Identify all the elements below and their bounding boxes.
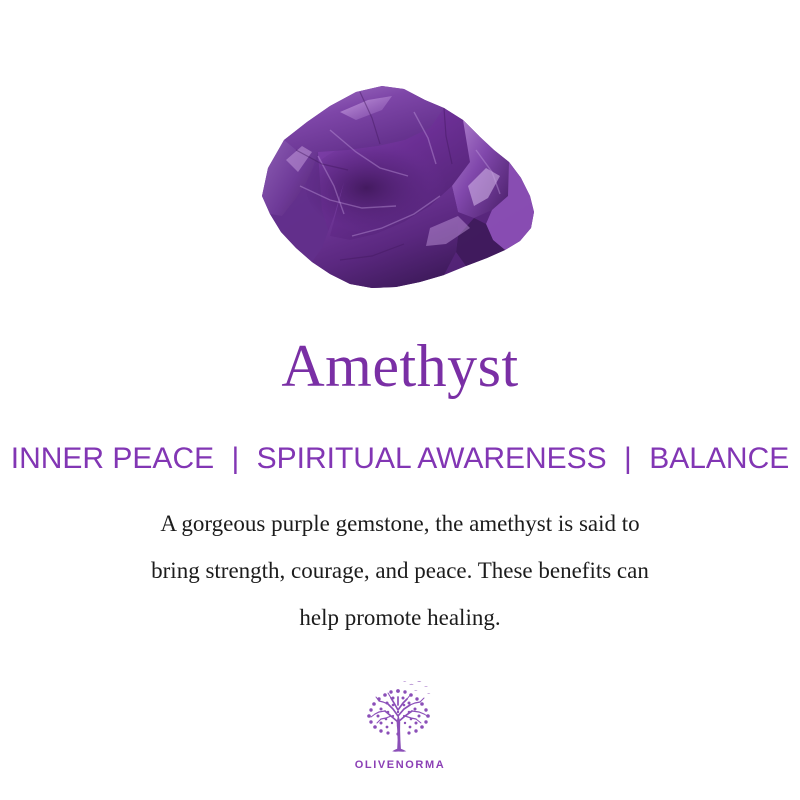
brand-name: OLIVENORMA [355, 759, 446, 771]
brand-logo: OLIVENORMA [0, 678, 800, 771]
product-description: A gorgeous purple gemstone, the amethyst… [40, 500, 760, 641]
product-card: Amethyst INNER PEACE | SPIRITUAL AWARENE… [0, 0, 800, 800]
keyword-separator: | [222, 442, 248, 475]
product-image [0, 0, 800, 320]
keyword-inner-peace: INNER PEACE [11, 442, 214, 475]
amethyst-stone-illustration [0, 0, 800, 320]
description-line: help promote healing. [40, 594, 760, 641]
description-line: A gorgeous purple gemstone, the amethyst… [40, 500, 760, 547]
keyword-list: INNER PEACE | SPIRITUAL AWARENESS | BALA… [0, 440, 800, 478]
keyword-separator: | [615, 442, 641, 475]
birds-icon [403, 681, 430, 694]
tree-of-life-icon [357, 678, 443, 756]
keyword-spiritual-awareness: SPIRITUAL AWARENESS [257, 442, 607, 475]
description-line: bring strength, courage, and peace. Thes… [40, 547, 760, 594]
keyword-balance: BALANCE [649, 442, 789, 475]
page-title: Amethyst [0, 330, 800, 402]
